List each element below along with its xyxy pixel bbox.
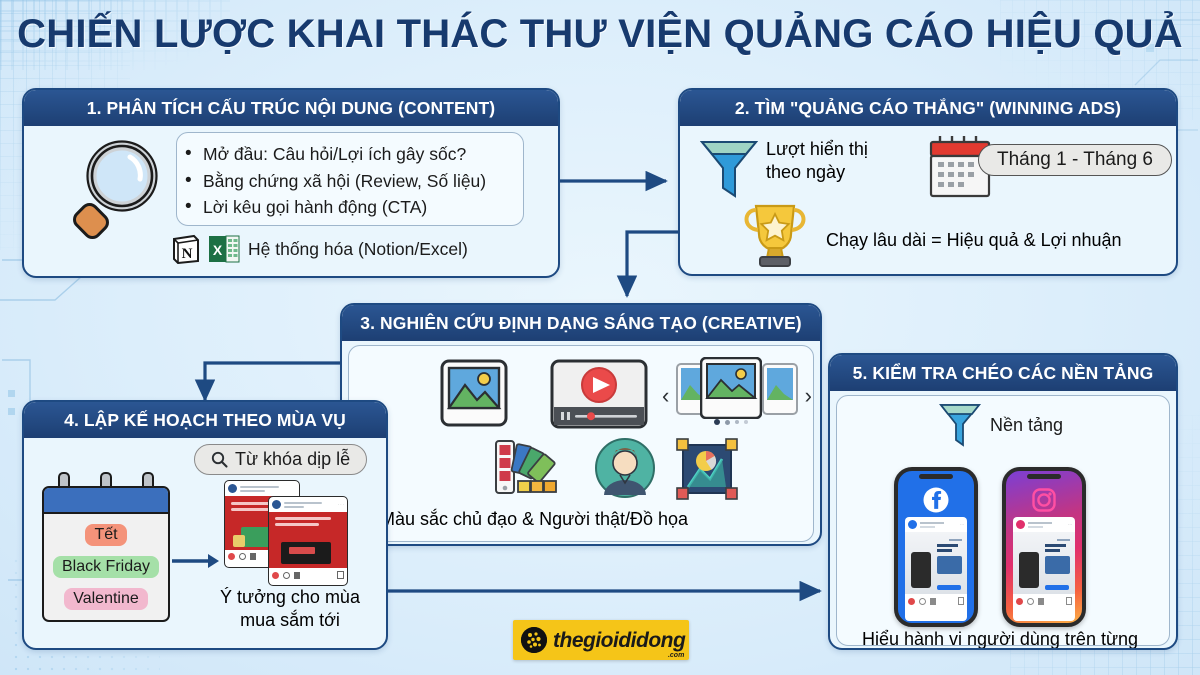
card-content-structure[interactable]: 1. PHÂN TÍCH CẤU TRÚC NỘI DUNG (CONTENT)… <box>22 88 560 278</box>
carousel-format-icon[interactable]: ‹ › <box>662 357 812 435</box>
impressions-label: Lượt hiển thị theo ngày <box>766 138 868 185</box>
card-2-title: 2. TÌM "QUẢNG CÁO THẮNG" (WINNING ADS) <box>680 90 1176 126</box>
card-1-title: 1. PHÂN TÍCH CẤU TRÚC NỘI DUNG (CONTENT) <box>24 90 558 126</box>
content-structure-bullet-list: Mở đầu: Câu hỏi/Lợi ích gây sốc? Bằng ch… <box>183 141 513 221</box>
carousel-next-arrow[interactable]: › <box>805 383 812 409</box>
brand-logo[interactable]: thegioididong .com <box>513 620 689 660</box>
card-4-title: 4. LẬP KẾ HOẠCH THEO MÙA VỤ <box>24 402 386 438</box>
social-post-stack-icon[interactable]: · · · <box>224 480 354 580</box>
trophy-icon <box>738 200 812 272</box>
brand-suffix: .com <box>668 652 684 659</box>
funnel-icon <box>698 136 760 202</box>
season-tag[interactable]: Black Friday <box>53 556 159 578</box>
card-3-title: 3. NGHIÊN CỨU ĐỊNH DẠNG SÁNG TẠO (CREATI… <box>342 305 820 341</box>
image-format-icon[interactable] <box>440 359 508 427</box>
brand-name: thegioididong .com <box>553 630 685 651</box>
systemization-row: N X Hệ thống hóa (Notion/Excel) <box>172 234 468 264</box>
list-item: Mở đầu: Câu hỏi/Lợi ích gây sốc? <box>183 141 513 168</box>
carousel-dots <box>714 419 748 425</box>
arrow-right-icon <box>172 550 220 572</box>
card-cross-platform-check[interactable]: 5. KIỂM TRA CHÉO CÁC NỀN TẢNG Nền tảng <box>828 353 1178 650</box>
seasonal-calendar: Tết Black Friday Valentine <box>42 472 170 622</box>
date-range-pill[interactable]: Tháng 1 - Tháng 6 <box>978 144 1172 176</box>
magnifying-glass-icon <box>70 140 162 240</box>
svg-text:X: X <box>213 242 223 258</box>
holiday-keyword-label: Từ khóa dịp lễ <box>235 449 350 470</box>
notion-icon: N <box>172 234 200 264</box>
creative-style-caption: Màu sắc chủ đạo & Người thật/Đồ họa <box>380 509 688 530</box>
svg-text:N: N <box>182 246 193 262</box>
season-tag[interactable]: Tết <box>85 524 126 546</box>
list-item: Lời kêu gọi hành động (CTA) <box>183 194 513 221</box>
search-icon <box>211 451 228 468</box>
seasonal-idea-caption: Ý tưởng cho mùa mua sắm tới <box>210 586 370 631</box>
card-winning-ads[interactable]: 2. TÌM "QUẢNG CÁO THẮNG" (WINNING ADS) L… <box>678 88 1178 276</box>
holiday-keyword-pill[interactable]: Từ khóa dịp lễ <box>194 444 367 475</box>
instagram-phone-mockup[interactable]: ··· <box>1002 467 1086 627</box>
brand-mark-icon <box>521 627 547 653</box>
excel-icon: X <box>208 234 240 264</box>
infographic-canvas: CHIẾN LƯỢC KHAI THÁC THƯ VIỆN QUẢNG CÁO … <box>0 0 1200 675</box>
facebook-icon <box>923 487 949 513</box>
card-creative-formats[interactable]: 3. NGHIÊN CỨU ĐỊNH DẠNG SÁNG TẠO (CREATI… <box>340 303 822 546</box>
platform-funnel-label: Nền tảng <box>990 415 1063 436</box>
systemization-label: Hệ thống hóa (Notion/Excel) <box>248 239 468 260</box>
page-title: CHIẾN LƯỢC KHAI THÁC THƯ VIỆN QUẢNG CÁO … <box>0 12 1200 57</box>
list-item: Bằng chứng xã hội (Review, Số liệu) <box>183 168 513 195</box>
funnel-icon <box>938 401 982 449</box>
long-run-caption: Chạy lâu dài = Hiệu quả & Lợi nhuận <box>826 230 1122 251</box>
graphic-design-icon[interactable] <box>674 437 740 501</box>
platform-behavior-caption: Hiểu hành vi người dùng trên từng kênh <box>840 629 1160 650</box>
facebook-phone-mockup[interactable]: ··· <box>894 467 978 627</box>
instagram-icon <box>1031 487 1057 513</box>
card-5-title: 5. KIỂM TRA CHÉO CÁC NỀN TẢNG <box>830 355 1176 391</box>
color-palette-icon[interactable] <box>494 439 562 501</box>
person-avatar-icon[interactable] <box>594 437 656 499</box>
video-format-icon[interactable] <box>550 359 648 429</box>
season-tag[interactable]: Valentine <box>64 588 148 610</box>
card-seasonal-planning[interactable]: 4. LẬP KẾ HOẠCH THEO MÙA VỤ Tết Black Fr… <box>22 400 388 650</box>
carousel-prev-arrow[interactable]: ‹ <box>662 383 669 409</box>
